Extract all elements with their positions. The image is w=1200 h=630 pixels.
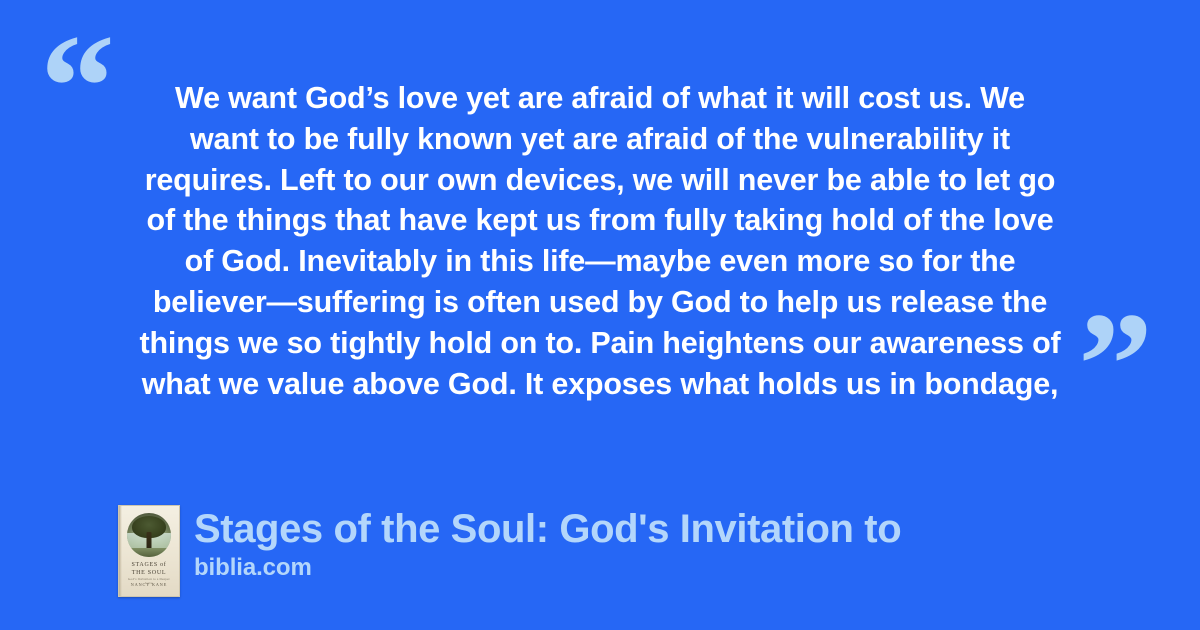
- tree-illustration-icon: [127, 513, 171, 557]
- cover-ground: [127, 548, 171, 557]
- cover-title: STAGES of THE SOUL: [119, 561, 179, 577]
- book-title[interactable]: Stages of the Soul: God's Invitation to: [194, 506, 901, 552]
- cover-title-line-1: STAGES of: [119, 561, 179, 569]
- close-quote-icon: ”: [1078, 290, 1153, 440]
- attribution-text: Stages of the Soul: God's Invitation to …: [194, 505, 901, 582]
- attribution[interactable]: STAGES of THE SOUL God’s Invitation to a…: [118, 505, 901, 597]
- quote-card: “ We want God’s love yet are afraid of w…: [0, 0, 1200, 630]
- cover-author: NANCY KANE: [119, 582, 179, 587]
- quote-text-block: We want God’s love yet are afraid of wha…: [100, 78, 1100, 404]
- book-cover-thumbnail[interactable]: STAGES of THE SOUL God’s Invitation to a…: [118, 505, 180, 597]
- quote-text: We want God’s love yet are afraid of wha…: [100, 78, 1100, 404]
- cover-title-line-2: THE SOUL: [119, 569, 179, 577]
- site-domain[interactable]: biblia.com: [194, 554, 901, 582]
